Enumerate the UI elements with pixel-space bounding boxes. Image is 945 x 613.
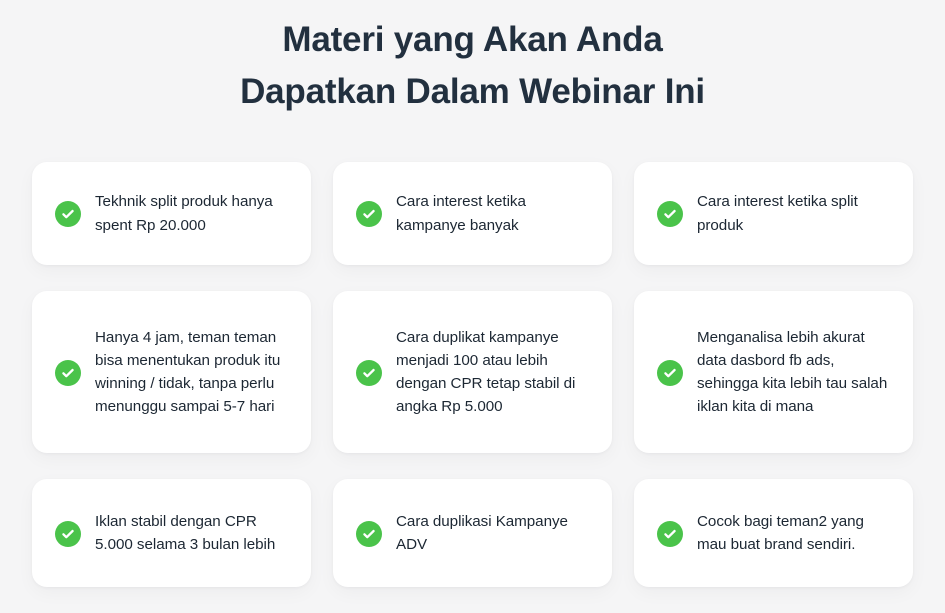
- benefit-card-8[interactable]: Cara duplikasi Kampanye ADV: [333, 479, 612, 587]
- benefit-card-text: Iklan stabil dengan CPR 5.000 selama 3 b…: [95, 510, 293, 556]
- benefit-card-1[interactable]: Tekhnik split produk hanya spent Rp 20.0…: [32, 162, 311, 265]
- page-title: Materi yang Akan Anda Dapatkan Dalam Web…: [0, 0, 945, 118]
- benefits-grid: Tekhnik split produk hanya spent Rp 20.0…: [32, 162, 913, 587]
- benefit-card-text: Hanya 4 jam, teman teman bisa menentukan…: [95, 326, 293, 418]
- benefit-card-3[interactable]: Cara interest ketika split produk: [634, 162, 913, 265]
- benefit-card-7[interactable]: Iklan stabil dengan CPR 5.000 selama 3 b…: [32, 479, 311, 587]
- benefit-card-text: Cara interest ketika kampanye banyak: [396, 190, 594, 236]
- benefit-card-text: Cara interest ketika split produk: [697, 190, 895, 236]
- check-circle-icon: [356, 521, 382, 547]
- check-circle-icon: [356, 201, 382, 227]
- benefit-card-6[interactable]: Menganalisa lebih akurat data dasbord fb…: [634, 291, 913, 453]
- benefit-card-9[interactable]: Cocok bagi teman2 yang mau buat brand se…: [634, 479, 913, 587]
- page-root: Materi yang Akan Anda Dapatkan Dalam Web…: [0, 0, 945, 613]
- page-title-line-1: Materi yang Akan Anda: [0, 14, 945, 66]
- check-circle-icon: [657, 360, 683, 386]
- check-circle-icon: [657, 201, 683, 227]
- check-circle-icon: [55, 201, 81, 227]
- check-circle-icon: [55, 360, 81, 386]
- benefit-card-text: Cara duplikat kampanye menjadi 100 atau …: [396, 326, 594, 418]
- benefit-card-4[interactable]: Hanya 4 jam, teman teman bisa menentukan…: [32, 291, 311, 453]
- benefit-card-5[interactable]: Cara duplikat kampanye menjadi 100 atau …: [333, 291, 612, 453]
- benefit-card-text: Menganalisa lebih akurat data dasbord fb…: [697, 326, 895, 418]
- benefit-card-text: Tekhnik split produk hanya spent Rp 20.0…: [95, 190, 293, 236]
- check-circle-icon: [657, 521, 683, 547]
- benefit-card-text: Cara duplikasi Kampanye ADV: [396, 510, 594, 556]
- check-circle-icon: [356, 360, 382, 386]
- page-title-line-2: Dapatkan Dalam Webinar Ini: [0, 66, 945, 118]
- benefit-card-text: Cocok bagi teman2 yang mau buat brand se…: [697, 510, 895, 556]
- check-circle-icon: [55, 521, 81, 547]
- benefit-card-2[interactable]: Cara interest ketika kampanye banyak: [333, 162, 612, 265]
